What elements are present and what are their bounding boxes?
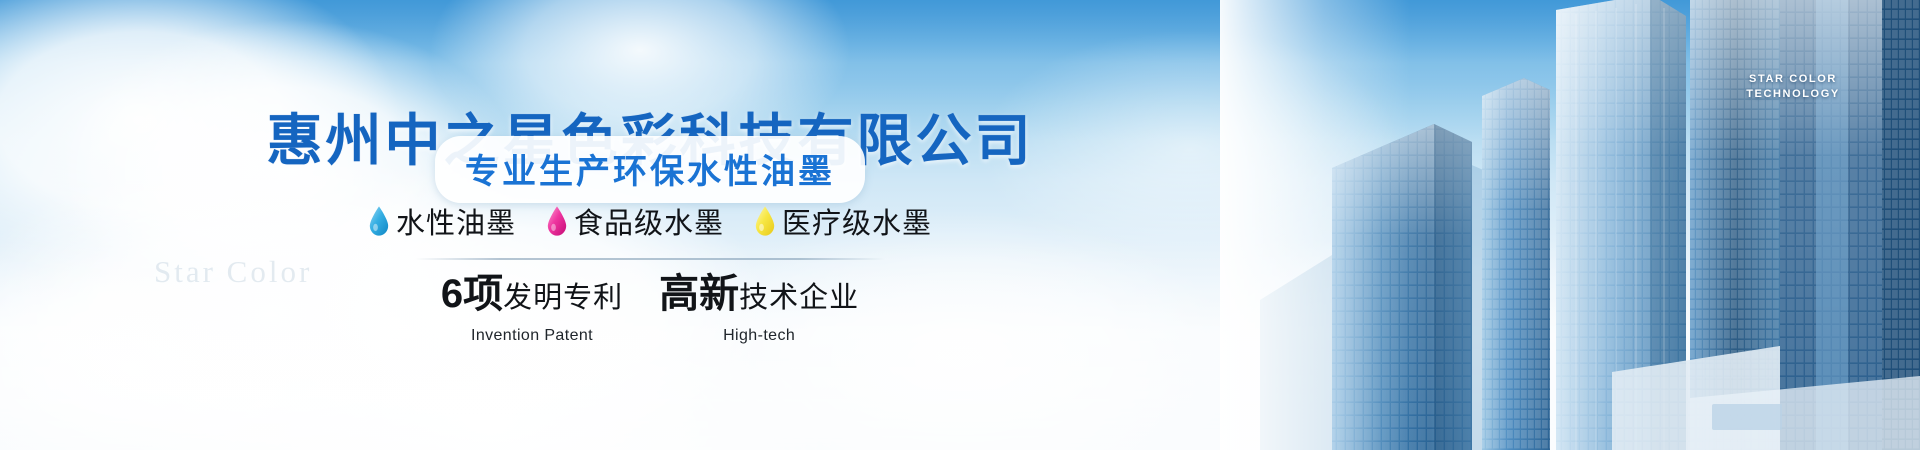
badge-suffix: 技术企业: [739, 282, 859, 314]
subtitle-pill-wrap: 专业生产环保水性油墨: [0, 136, 1300, 203]
badge-chinese-text: 6项发明专利: [441, 272, 623, 325]
badge-high-tech: 高新技术企业 High-tech: [659, 272, 859, 345]
water-drop-icon: [754, 205, 776, 237]
credential-badges: 6项发明专利 Invention Patent 高新技术企业 High-tech: [0, 272, 1300, 345]
badge-highlight: 6项: [441, 272, 503, 316]
badge-suffix: 发明专利: [503, 282, 623, 314]
feature-label: 食品级水墨: [574, 200, 724, 242]
water-drop-icon: [546, 205, 568, 237]
badge-english-text: High-tech: [659, 327, 859, 345]
feature-label: 医疗级水墨: [782, 200, 932, 242]
badge-highlight: 高新: [659, 272, 739, 316]
subtitle-pill: 专业生产环保水性油墨: [435, 136, 865, 203]
badge-english-text: Invention Patent: [441, 327, 623, 345]
section-divider: [415, 258, 885, 260]
feature-item-water-ink: 水性油墨: [368, 200, 516, 242]
feature-item-food-grade-ink: 食品级水墨: [546, 200, 724, 242]
feature-label: 水性油墨: [396, 200, 516, 242]
water-drop-icon: [368, 205, 390, 237]
feature-item-medical-grade-ink: 医疗级水墨: [754, 200, 932, 242]
banner-content: 惠州中之星色彩科技有限公司 专业生产环保水性油墨 水性油: [0, 0, 1300, 450]
badge-chinese-text: 高新技术企业: [659, 272, 859, 325]
company-hero-banner: Star Color: [0, 0, 1920, 450]
feature-list: 水性油墨 食品级水墨: [0, 200, 1300, 242]
badge-invention-patent: 6项发明专利 Invention Patent: [441, 272, 623, 345]
